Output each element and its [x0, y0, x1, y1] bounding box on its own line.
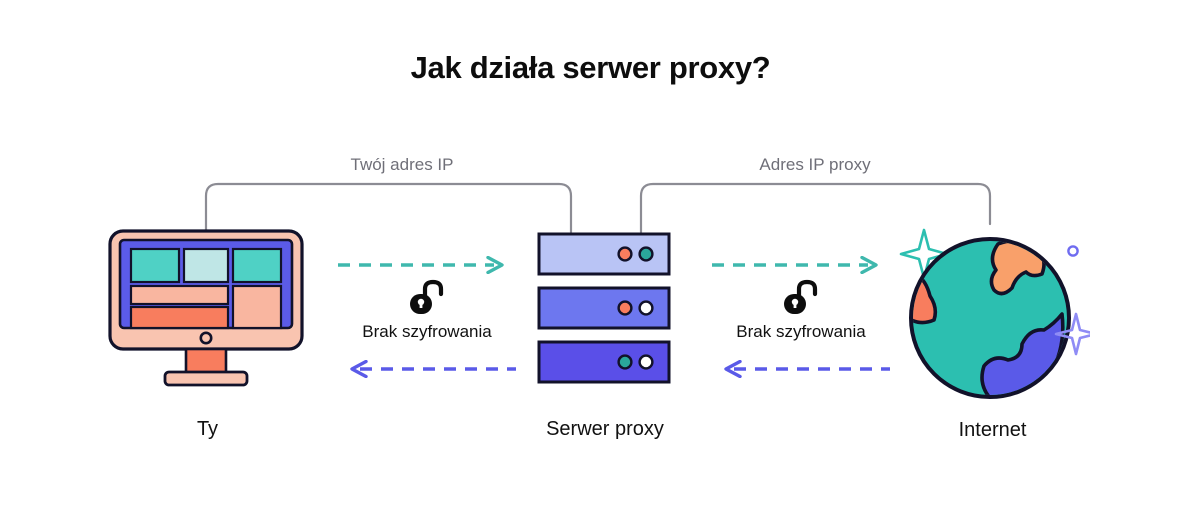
caption-internet: Internet: [885, 419, 1100, 442]
server-led-middle-2: [640, 302, 653, 315]
dot-circle-purple-icon: [1068, 246, 1077, 255]
server-rack-icon: [537, 232, 671, 384]
bracket-left-path: [206, 184, 571, 232]
screen-tile-mid-left: [131, 286, 228, 304]
server-led-bottom-2: [640, 356, 653, 369]
screen-tile-top-center: [184, 249, 228, 282]
screen-tile-top-right: [233, 249, 281, 282]
label-proxy-ip: Adres IP proxy: [700, 155, 930, 175]
globe-icon: [890, 218, 1090, 403]
open-padlock-icon: [407, 278, 447, 316]
server-led-top-1: [619, 248, 632, 261]
desktop-monitor-icon: [107, 228, 305, 388]
flow-you-to-proxy: Brak szyfrowania: [336, 252, 518, 382]
screen-tile-right-block: [233, 286, 281, 328]
flow-proxy-to-internet: Brak szyfrowania: [710, 252, 892, 382]
monitor-base: [165, 372, 247, 385]
arrow-outbound-right-icon: [710, 256, 892, 274]
flow-label-no-encryption: Brak szyfrowania: [330, 322, 524, 342]
screen-tile-bottom-left: [131, 307, 228, 328]
flow-label-no-encryption: Brak szyfrowania: [704, 322, 898, 342]
server-led-middle-1: [619, 302, 632, 315]
diagram-canvas: Jak działa serwer proxy? Twój adres IP A…: [0, 0, 1181, 510]
caption-you: Ty: [105, 418, 310, 441]
caption-proxy: Serwer proxy: [485, 418, 725, 441]
monitor-power-indicator: [201, 333, 211, 343]
arrow-inbound-left-icon: [336, 360, 518, 378]
arrow-inbound-left-icon: [710, 360, 892, 378]
server-led-bottom-1: [619, 356, 632, 369]
open-padlock-icon: [781, 278, 821, 316]
server-led-top-2: [640, 248, 653, 261]
label-your-ip: Twój adres IP: [282, 155, 522, 175]
page-title: Jak działa serwer proxy?: [0, 50, 1181, 86]
screen-tile-top-left: [131, 249, 179, 282]
monitor-neck: [186, 349, 226, 374]
arrow-outbound-right-icon: [336, 256, 518, 274]
